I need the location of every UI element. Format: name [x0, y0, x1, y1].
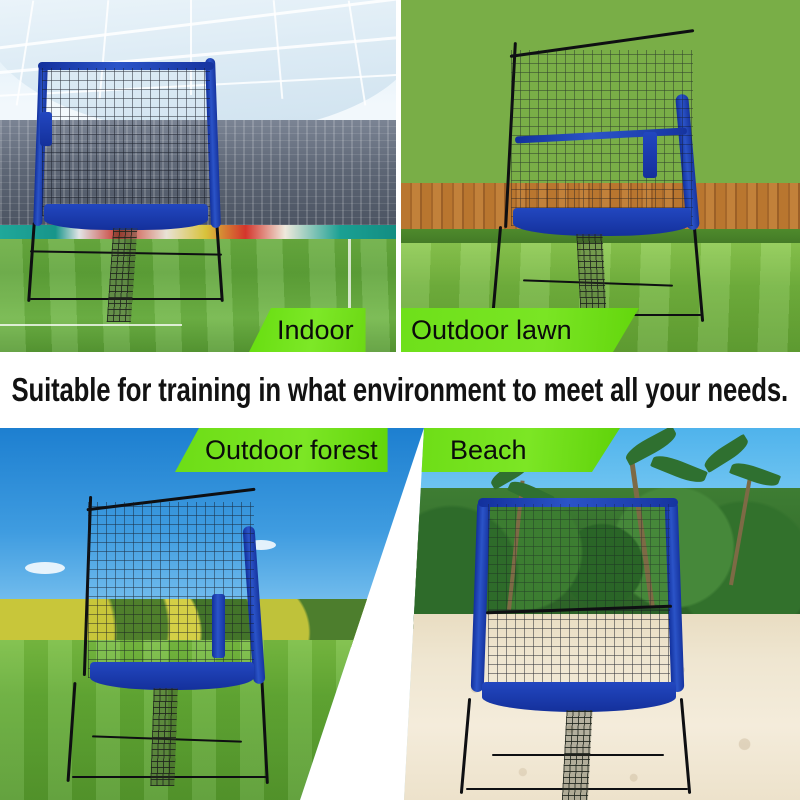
catch-net-mesh-lower [488, 610, 670, 692]
catch-net-mesh [88, 502, 254, 678]
headline-text: Suitable for training in what environmen… [12, 371, 788, 409]
side-blue-pad [40, 112, 52, 146]
panel-outdoor-forest: Outdoor forest [0, 428, 424, 800]
panel-label-outdoor-forest-text: Outdoor forest [205, 435, 378, 466]
side-blue-pad [643, 132, 657, 178]
rig-leg [27, 222, 36, 302]
panel-beach: Beach [404, 428, 800, 800]
field-line [0, 324, 182, 326]
training-net-rig [62, 486, 312, 776]
ball-return-sock [561, 710, 592, 800]
front-blue-pad [482, 682, 676, 712]
panel-label-outdoor-forest: Outdoor forest [175, 428, 388, 472]
panel-label-outdoor-lawn: Outdoor lawn [401, 308, 639, 352]
front-blue-pad [44, 204, 208, 230]
rig-leg [680, 698, 691, 794]
training-net-rig [22, 52, 272, 302]
palm-frond [650, 451, 708, 487]
panel-outdoor-lawn: Outdoor lawn [401, 0, 800, 352]
panel-label-beach-text: Beach [450, 435, 527, 466]
product-feature-collage: Indoor Outdoor lawn S [0, 0, 800, 800]
ball-return-sock [150, 688, 177, 786]
rig-leg [491, 226, 502, 320]
side-blue-pad [212, 594, 225, 658]
rig-leg [693, 226, 704, 322]
training-net-rig [452, 486, 732, 786]
panel-label-outdoor-lawn-text: Outdoor lawn [411, 315, 572, 346]
rig-leg [460, 698, 471, 794]
panel-label-beach: Beach [414, 428, 620, 472]
training-net-rig [483, 36, 753, 316]
cloud [25, 562, 65, 574]
catch-net-mesh-upper [488, 504, 670, 610]
panel-label-indoor-text: Indoor [277, 315, 354, 346]
front-blue-pad [513, 208, 691, 236]
panel-indoor: Indoor [0, 0, 396, 352]
catch-net-mesh [42, 68, 210, 216]
rig-leg [67, 682, 77, 782]
headline-band: Suitable for training in what environmen… [0, 352, 800, 428]
rig-leg [215, 222, 224, 302]
palm-frond [729, 459, 781, 490]
front-blue-pad [90, 662, 254, 690]
